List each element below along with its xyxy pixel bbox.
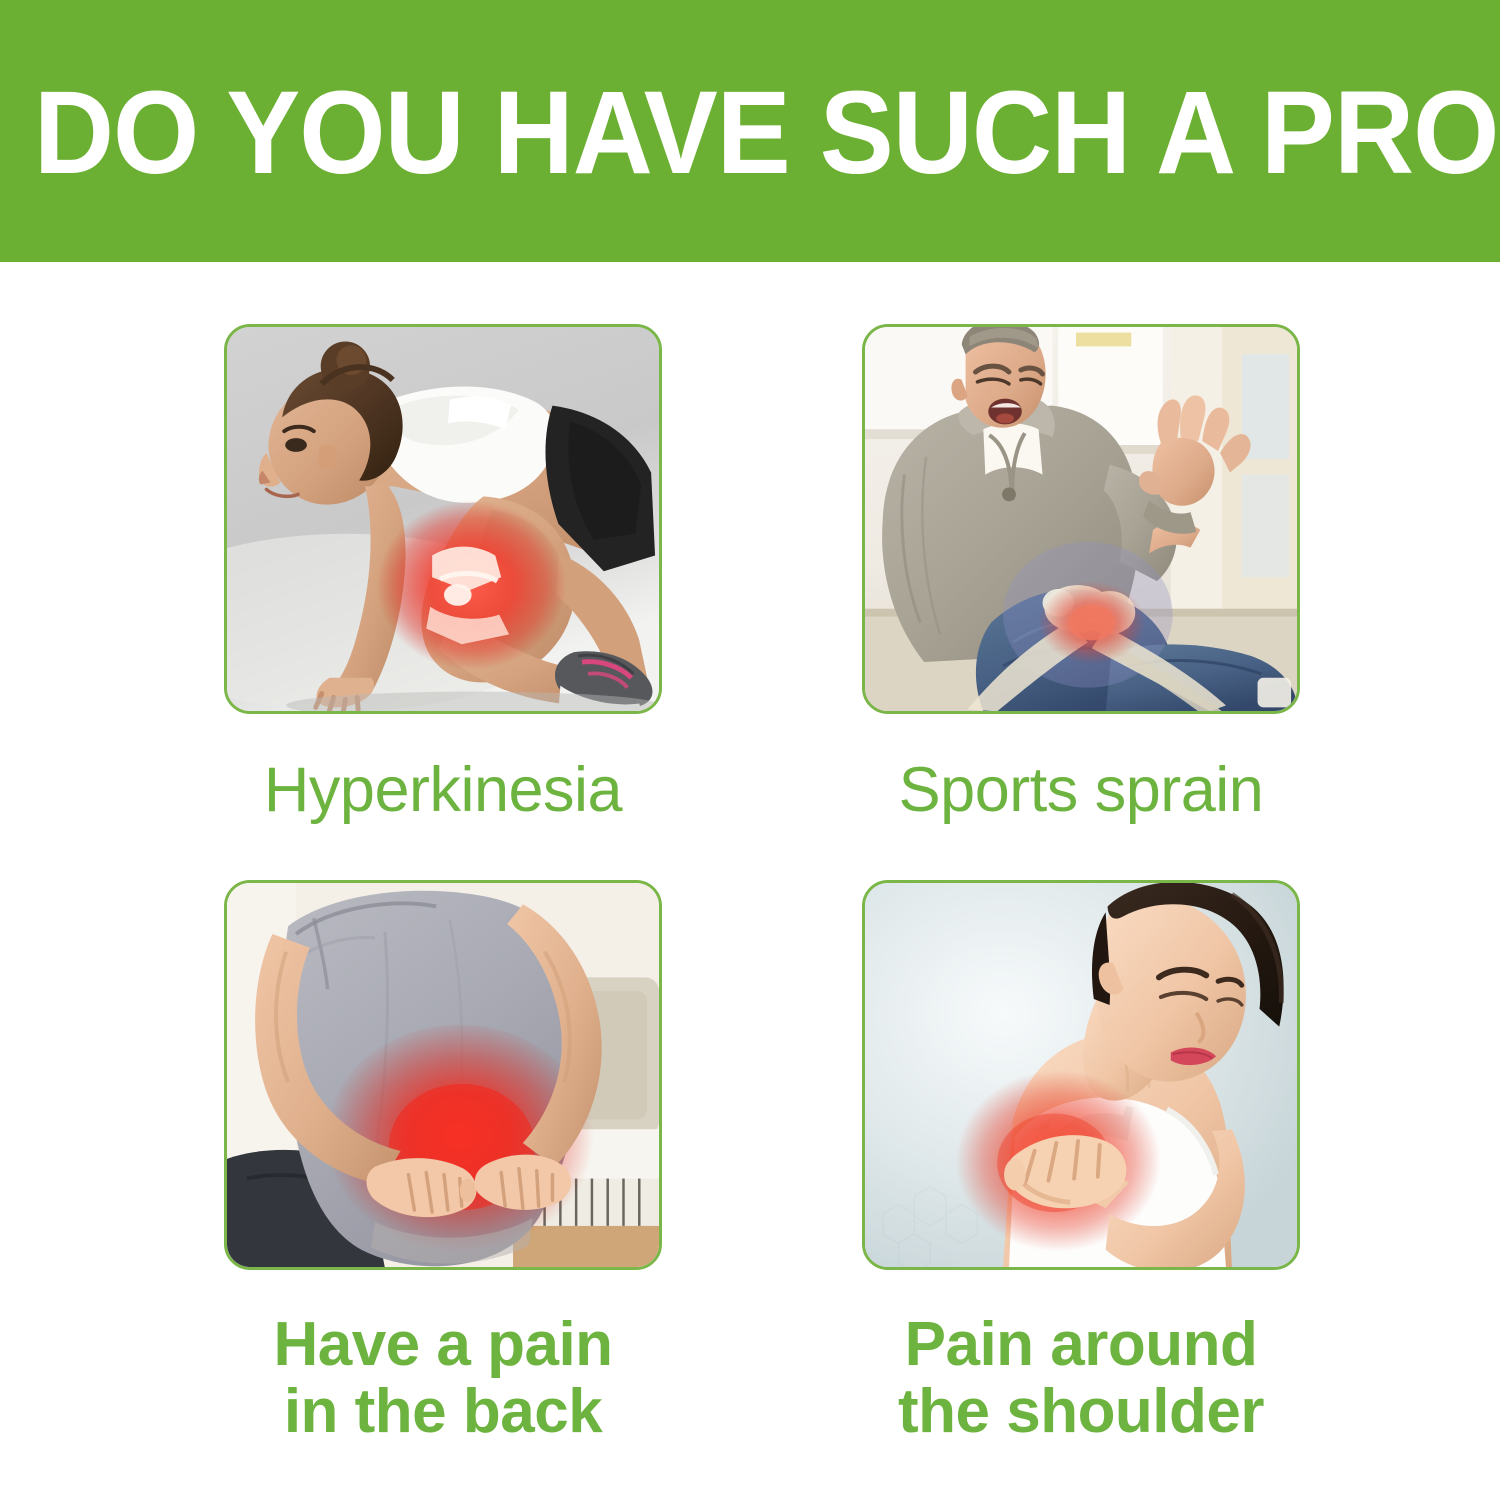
problem-cards-grid: Hyperkinesia (224, 324, 1302, 1446)
photo-man-knee-sprain (862, 324, 1300, 714)
problem-card-shoulder-pain[interactable]: Pain around the shoulder (862, 880, 1300, 1446)
problem-card-back-pain[interactable]: Have a pain in the back (224, 880, 662, 1446)
card-caption-sports-sprain: Sports sprain (862, 714, 1300, 880)
card-caption-hyperkinesia: Hyperkinesia (224, 714, 662, 880)
card-caption-back-pain: Have a pain in the back (224, 1270, 662, 1446)
photo-woman-shoulder-pain (862, 880, 1300, 1270)
card-caption-shoulder-pain: Pain around the shoulder (862, 1270, 1300, 1446)
problem-card-sports-sprain[interactable]: Sports sprain (862, 324, 1300, 880)
header-banner: DO YOU HAVE SUCH A PROBLEM? (0, 0, 1500, 262)
photo-runner-knee-pain (224, 324, 662, 714)
problem-card-hyperkinesia[interactable]: Hyperkinesia (224, 324, 662, 880)
page-title: DO YOU HAVE SUCH A PROBLEM? (0, 70, 1500, 192)
photo-man-back-pain (224, 880, 662, 1270)
